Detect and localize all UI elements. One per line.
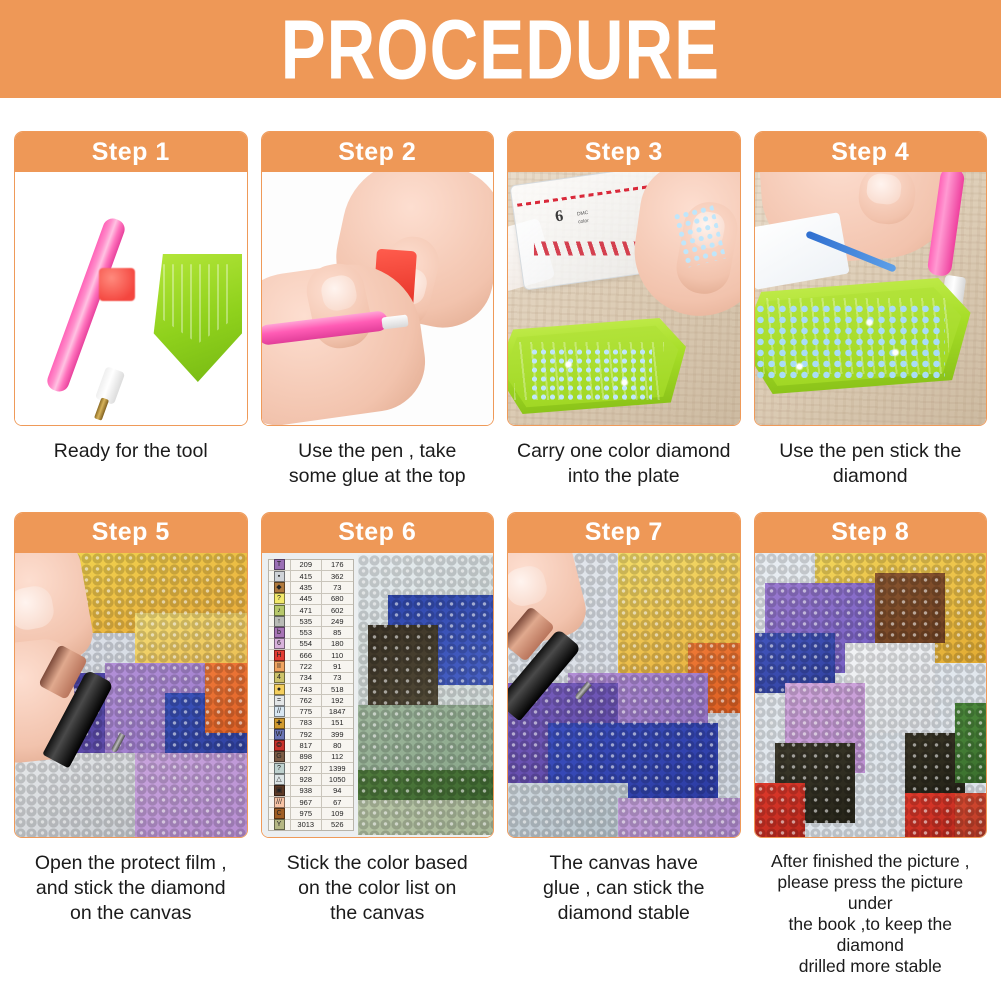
code-cell: 209 <box>291 560 323 570</box>
step-card-5: Step 5 Open the protect fi <box>14 512 248 977</box>
count-cell: 73 <box>322 582 353 592</box>
symbol-cell: G <box>269 752 291 762</box>
count-cell: 112 <box>322 752 353 762</box>
step-6-caption: Stick the color basedon the color list o… <box>261 851 495 927</box>
step-3-caption: Carry one color diamondinto the plate <box>507 439 741 490</box>
step-card-1: Step 1 Ready for the tool <box>14 131 248 490</box>
table-row: H666110 <box>269 650 353 661</box>
step-3-photo: 6 DMCcolor <box>508 172 740 425</box>
count-cell: 110 <box>322 650 353 660</box>
count-cell: 192 <box>322 695 353 705</box>
step-2-photo <box>262 172 494 425</box>
symbol-cell: ✚ <box>269 718 291 728</box>
count-cell: 249 <box>322 616 353 626</box>
step-card-2: Step 2 Use the pen , takesome glue at th… <box>261 131 495 490</box>
table-row: ↑535249 <box>269 616 353 627</box>
table-row: ▪415362 <box>269 571 353 582</box>
step-8-caption: After finished the picture ,please press… <box>754 851 988 977</box>
symbol-cell: 4 <box>269 673 291 683</box>
code-cell: 415 <box>291 571 323 581</box>
symbol-cell: ● <box>269 684 291 694</box>
table-row: 473473 <box>269 673 353 684</box>
symbol-cell: ? <box>269 594 291 604</box>
table-row: C975109 <box>269 808 353 819</box>
count-cell: 73 <box>322 673 353 683</box>
count-cell: 362 <box>322 571 353 581</box>
step-4-badge-label: Step 4 <box>831 138 909 167</box>
step-5-photo <box>15 553 247 837</box>
table-row: T209176 <box>269 560 353 571</box>
table-row: ♪471602 <box>269 605 353 616</box>
step-7-card-frame: Step 7 <box>507 512 741 838</box>
code-cell: 743 <box>291 684 323 694</box>
step-4-caption: Use the pen stick thediamond <box>754 439 988 490</box>
step-card-3: Step 3 6 DMCcolor <box>507 131 741 490</box>
diamond-mosaic <box>358 555 494 835</box>
table-row: G898112 <box>269 752 353 763</box>
step-3-badge-label: Step 3 <box>585 138 663 167</box>
symbol-cell: ◆ <box>269 582 291 592</box>
table-row: ✚783151 <box>269 718 353 729</box>
table-row: II72291 <box>269 661 353 672</box>
code-cell: 762 <box>291 695 323 705</box>
code-cell: 471 <box>291 605 323 615</box>
step-card-4: Step 4 Use the pen stick t <box>754 131 988 490</box>
table-row: W792399 <box>269 729 353 740</box>
step-card-8: Step 8 After finished the picture , <box>754 512 988 977</box>
symbol-cell: /// <box>269 797 291 807</box>
code-cell: 775 <box>291 707 323 717</box>
step-2-caption: Use the pen , takesome glue at the top <box>261 439 495 490</box>
symbol-cell: ❂ <box>269 740 291 750</box>
symbol-cell: 6 <box>269 639 291 649</box>
table-row: ?9271399 <box>269 763 353 774</box>
step-8-badge-label: Step 8 <box>831 518 909 547</box>
symbol-cell: ▪ <box>269 571 291 581</box>
code-cell: 554 <box>291 639 323 649</box>
table-row: ///96767 <box>269 797 353 808</box>
step-2-badge-label: Step 2 <box>338 138 416 167</box>
step-5-caption: Open the protect film ,and stick the dia… <box>14 851 248 927</box>
table-row: b55385 <box>269 627 353 638</box>
code-cell: 975 <box>291 808 323 818</box>
code-cell: 817 <box>291 740 323 750</box>
step-6-card-frame: Step 6 T209176 ▪415362 ◆43573 <box>261 512 495 838</box>
step-6-header: Step 6 <box>262 513 494 553</box>
table-row: ▣93894 <box>269 786 353 797</box>
symbol-cell: // <box>269 707 291 717</box>
count-cell: 526 <box>322 820 353 830</box>
step-1-card-frame: Step 1 <box>14 131 248 426</box>
step-card-6: Step 6 T209176 ▪415362 ◆43573 <box>261 512 495 977</box>
table-row: 6554180 <box>269 639 353 650</box>
step-1-caption: Ready for the tool <box>14 439 248 464</box>
count-cell: 1399 <box>322 763 353 773</box>
count-cell: 1847 <box>322 707 353 717</box>
step-1-photo <box>15 172 247 425</box>
code-cell: 722 <box>291 661 323 671</box>
count-cell: 91 <box>322 661 353 671</box>
code-cell: 938 <box>291 786 323 796</box>
symbol-cell: C <box>269 808 291 818</box>
code-cell: 783 <box>291 718 323 728</box>
symbol-cell: = <box>269 695 291 705</box>
count-cell: 176 <box>322 560 353 570</box>
step-4-photo <box>755 172 987 425</box>
diamond-mosaic <box>755 553 987 837</box>
count-cell: 518 <box>322 684 353 694</box>
step-4-header: Step 4 <box>755 132 987 172</box>
count-cell: 680 <box>322 594 353 604</box>
table-row: ?445680 <box>269 594 353 605</box>
symbol-cell: W <box>269 729 291 739</box>
step-8-card-frame: Step 8 <box>754 512 988 838</box>
page-header: PROCEDURE <box>0 0 1001 98</box>
steps-row-top: Step 1 Ready for the tool Step 2 <box>0 131 1001 490</box>
code-cell: 967 <box>291 797 323 807</box>
table-row: =762192 <box>269 695 353 706</box>
symbol-cell: ↑ <box>269 616 291 626</box>
count-cell: 151 <box>322 718 353 728</box>
code-cell: 435 <box>291 582 323 592</box>
step-8-header: Step 8 <box>755 513 987 553</box>
code-cell: 666 <box>291 650 323 660</box>
steps-row-bottom: Step 5 Open the protect fi <box>0 512 1001 977</box>
code-cell: 927 <box>291 763 323 773</box>
count-cell: 67 <box>322 797 353 807</box>
symbol-cell: ♪ <box>269 605 291 615</box>
count-cell: 1050 <box>322 774 353 784</box>
count-cell: 80 <box>322 740 353 750</box>
code-cell: 734 <box>291 673 323 683</box>
step-5-header: Step 5 <box>15 513 247 553</box>
code-cell: 553 <box>291 627 323 637</box>
symbol-cell: Y <box>269 820 291 830</box>
step-8-photo <box>755 553 987 837</box>
step-3-header: Step 3 <box>508 132 740 172</box>
code-cell: 928 <box>291 774 323 784</box>
step-5-card-frame: Step 5 <box>14 512 248 838</box>
step-1-header: Step 1 <box>15 132 247 172</box>
step-card-7: Step 7 The canvas haveglue , can stick t… <box>507 512 741 977</box>
code-cell: 3013 <box>291 820 323 830</box>
table-row: ❂81780 <box>269 740 353 751</box>
step-6-photo: T209176 ▪415362 ◆43573 ?445680 ♪471602 ↑… <box>262 553 494 837</box>
symbol-cell: △ <box>269 774 291 784</box>
step-6-badge-label: Step 6 <box>338 518 416 547</box>
step-7-caption: The canvas haveglue , can stick thediamo… <box>507 851 741 927</box>
step-4-card-frame: Step 4 <box>754 131 988 426</box>
table-row: ●743518 <box>269 684 353 695</box>
count-cell: 94 <box>322 786 353 796</box>
count-cell: 399 <box>322 729 353 739</box>
green-tray-icon <box>150 254 242 382</box>
step-7-photo <box>508 553 740 837</box>
symbol-cell: ? <box>269 763 291 773</box>
table-row: Y3013526 <box>269 820 353 830</box>
step-5-badge-label: Step 5 <box>92 518 170 547</box>
table-row: //7751847 <box>269 707 353 718</box>
symbol-cell: II <box>269 661 291 671</box>
step-2-header: Step 2 <box>262 132 494 172</box>
symbol-cell: H <box>269 650 291 660</box>
color-list-table: T209176 ▪415362 ◆43573 ?445680 ♪471602 ↑… <box>268 559 354 831</box>
code-cell: 445 <box>291 594 323 604</box>
count-cell: 602 <box>322 605 353 615</box>
symbol-cell: ▣ <box>269 786 291 796</box>
table-row: △9281050 <box>269 774 353 785</box>
count-cell: 109 <box>322 808 353 818</box>
code-cell: 792 <box>291 729 323 739</box>
canvas-area <box>358 555 494 835</box>
code-cell: 898 <box>291 752 323 762</box>
code-cell: 535 <box>291 616 323 626</box>
symbol-cell: b <box>269 627 291 637</box>
count-cell: 180 <box>322 639 353 649</box>
count-cell: 85 <box>322 627 353 637</box>
symbol-cell: T <box>269 560 291 570</box>
step-7-badge-label: Step 7 <box>585 518 663 547</box>
step-7-header: Step 7 <box>508 513 740 553</box>
step-3-card-frame: Step 3 6 DMCcolor <box>507 131 741 426</box>
table-row: ◆43573 <box>269 582 353 593</box>
page-title: PROCEDURE <box>281 0 720 97</box>
red-wax-icon <box>99 268 135 301</box>
step-2-card-frame: Step 2 <box>261 131 495 426</box>
step-1-badge-label: Step 1 <box>92 138 170 167</box>
